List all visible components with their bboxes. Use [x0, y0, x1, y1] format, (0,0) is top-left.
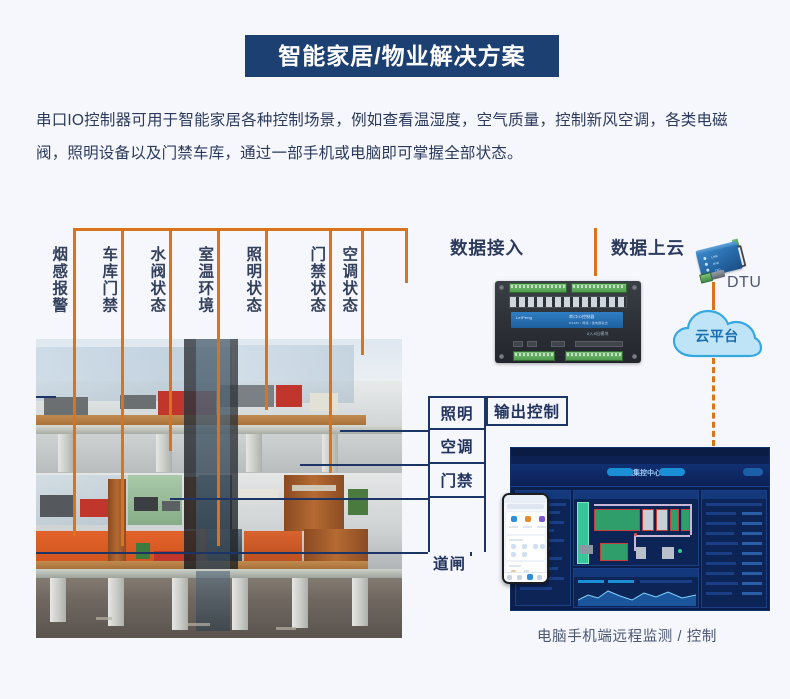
page-title: 智能家居/物业解决方案 — [278, 45, 525, 68]
solution-diagram-page: 智能家居/物业解决方案 串口IO控制器可用于智能家居各种控制场景，例如查看温湿度… — [0, 0, 790, 699]
input-drop-line-lighting — [265, 228, 268, 410]
cloud-platform-node: 云平台 — [670, 306, 764, 362]
mobile-app-screenshot — [502, 493, 549, 584]
relay-bank — [509, 296, 627, 308]
dashboard-trend-panel — [573, 568, 699, 608]
label-garage-access: 车库门禁 — [100, 246, 116, 314]
cloud-platform-label: 云平台 — [670, 306, 764, 362]
output-box-barrier-gate-frame — [428, 498, 486, 552]
dtu-power-terminal — [699, 272, 713, 284]
input-drop-line-water-valve — [169, 228, 172, 451]
cloud-to-monitor-dashed-line — [712, 358, 715, 446]
dashboard-scada-panel — [573, 490, 699, 566]
controller-footer: 8入8出模块 — [587, 331, 609, 337]
leader-line-top-edge — [36, 396, 56, 398]
phone-bottom-nav[interactable] — [504, 572, 547, 582]
terminal-block-bottom-right — [565, 351, 623, 361]
output-box-access-control: 门禁 — [428, 464, 486, 498]
output-box-air-conditioner: 空调 — [428, 430, 486, 464]
input-drop-line-smoke-alarm — [73, 228, 76, 536]
output-label-lighting: 照明 — [440, 402, 473, 424]
monitor-caption: 电脑手机端远程监测 / 控制 — [537, 625, 717, 646]
controller-label-plate: LeiPeng 串口IO控制器 RS485 / 网络 / 继电器输出 — [511, 312, 623, 328]
controller-model: 串口IO控制器 — [569, 314, 595, 320]
intro-paragraph: 串口IO控制器可用于智能家居各种控制场景，例如查看温湿度，空气质量，控制新风空调… — [36, 104, 758, 171]
label-smoke-alarm: 烟感报警 — [50, 246, 66, 314]
input-drop-line-air-con — [361, 228, 364, 355]
label-data-to-cloud: 数据上云 — [611, 235, 685, 260]
output-label-barrier-gate: 道闸 — [433, 552, 466, 574]
input-riser-to-controller — [405, 228, 408, 283]
cloud-riser-line — [594, 228, 597, 276]
io-controller-device: LeiPeng 串口IO控制器 RS485 / 网络 / 继电器输出 8入8出模… — [495, 281, 641, 363]
dashboard-monitor-screenshot: 数据集控中心 — [510, 447, 770, 611]
controller-sub: RS485 / 网络 / 继电器输出 — [569, 321, 608, 325]
label-lighting-status: 照明状态 — [244, 246, 260, 314]
output-label-access-control: 门禁 — [440, 469, 473, 491]
label-data-access: 数据接入 — [450, 235, 524, 260]
terminal-block-bottom-left — [513, 351, 555, 361]
terminal-block-top-right — [571, 283, 627, 293]
trend-chart — [578, 586, 696, 606]
input-drop-line-garage-access — [121, 228, 124, 546]
dashboard-right-panel — [701, 490, 767, 608]
label-aircon-status: 空调状态 — [340, 246, 356, 314]
output-box-lighting: 照明 — [428, 396, 486, 430]
label-room-temp: 室温环境 — [196, 246, 212, 314]
leader-line-access-control — [170, 498, 428, 500]
leader-line-barrier-gate — [36, 552, 428, 554]
input-drop-line-access-control — [329, 228, 332, 473]
output-control-box: 输出控制 — [486, 396, 568, 426]
output-label-air-conditioner: 空调 — [440, 435, 473, 457]
page-title-banner: 智能家居/物业解决方案 — [245, 35, 559, 77]
leader-line-air-conditioner — [300, 464, 428, 466]
terminal-block-top-left — [509, 283, 567, 293]
label-water-valve: 水阀状态 — [148, 246, 164, 314]
leader-line-lighting — [340, 430, 428, 432]
label-access-status: 门禁状态 — [308, 246, 324, 314]
output-control-label: 输出控制 — [494, 400, 560, 422]
controller-brand: LeiPeng — [516, 315, 532, 320]
phone-search-bar — [507, 504, 544, 509]
